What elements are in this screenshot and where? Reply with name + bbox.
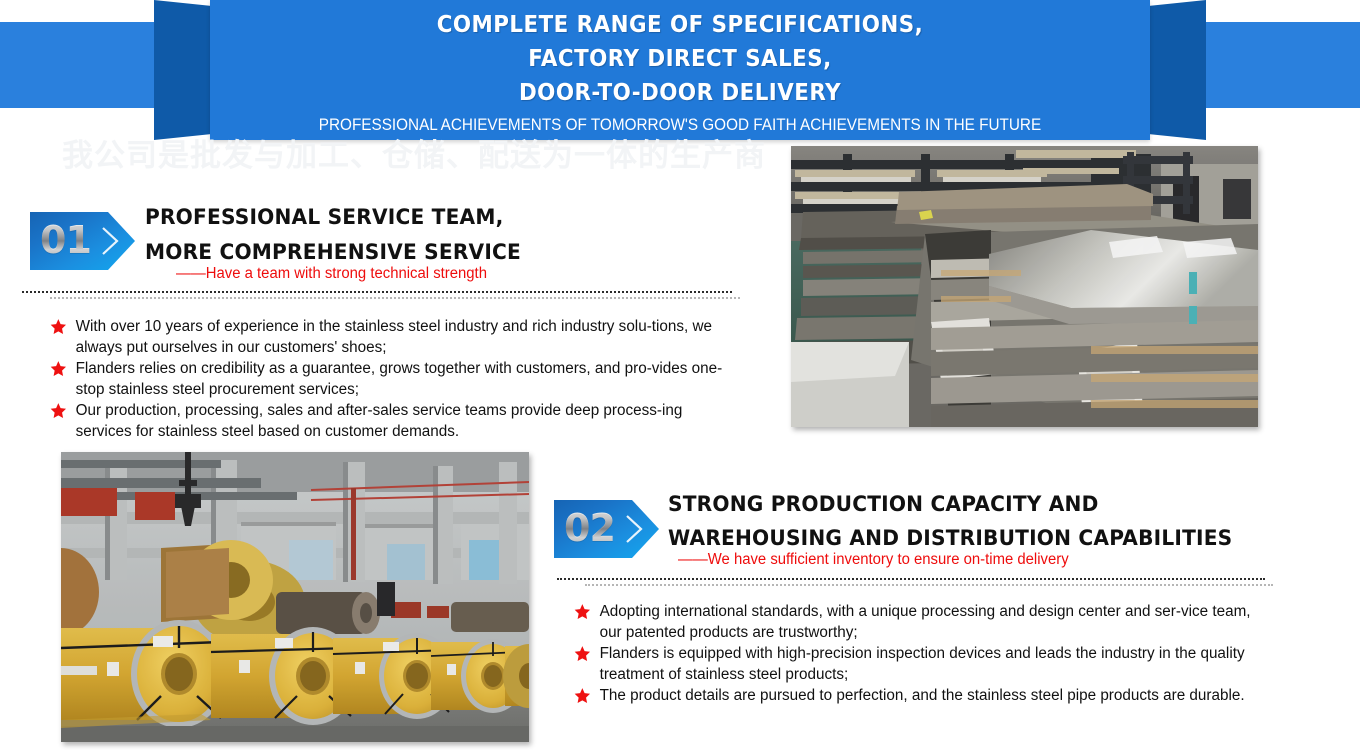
section-02-number-badge: 02 [554,500,659,558]
banner-headline-line-1: COMPLETE RANGE OF SPECIFICATIONS, [243,8,1117,42]
list-item: Flanders is equipped with high-precision… [572,643,1262,685]
section-01-title-line-1: PROFESSIONAL SERVICE TEAM, [145,205,503,229]
list-item: With over 10 years of experience in the … [48,316,728,358]
banner-fold-right [1148,0,1206,140]
section-01-number: 01 [40,218,91,262]
star-icon [574,687,591,704]
photo-stainless-steel-sheets [791,146,1258,427]
list-item: The product details are pursued to perfe… [572,685,1262,706]
section-01-divider [22,291,732,293]
photo-stainless-steel-coils [61,452,529,742]
section-01-bullet-list: With over 10 years of experience in the … [48,316,738,442]
banner-headline-line-2: FACTORY DIRECT SALES, [243,42,1117,76]
photo-sheets-illustration [791,146,1258,427]
list-item-text: Our production, processing, sales and af… [76,402,683,440]
section-01-title-line-2: MORE COMPREHENSIVE SERVICE [145,240,521,264]
list-item-text: Flanders is equipped with high-precision… [600,645,1245,683]
star-icon [50,360,67,377]
section-02-divider [557,578,1265,580]
list-item: Our production, processing, sales and af… [48,400,728,442]
background-watermark-text: 我公司是批发与加工、仓储、配送为一体的生产商 [62,130,766,175]
list-item-text: The product details are pursued to perfe… [600,687,1245,704]
star-icon [574,603,591,620]
list-item-text: Flanders relies on credibility as a guar… [76,360,723,398]
banner-headline-line-3: DOOR-TO-DOOR DELIVERY [243,76,1117,110]
list-item: Adopting international standards, with a… [572,601,1262,643]
list-item-text: Adopting international standards, with a… [600,603,1251,641]
section-02-subtitle: ——We have sufficient inventory to ensure… [678,551,1069,569]
section-02-bullet-list: Adopting international standards, with a… [572,601,1272,706]
section-01-subtitle: ——Have a team with strong technical stre… [176,265,487,283]
list-item: Flanders relies on credibility as a guar… [48,358,728,400]
section-01-number-badge: 01 [30,212,135,270]
star-icon [574,645,591,662]
photo-coils-illustration [61,452,529,742]
section-02-number: 02 [564,506,615,550]
section-02-title-line-2: WAREHOUSING AND DISTRIBUTION CAPABILITIE… [668,526,1232,550]
banner-fold-left [154,0,212,140]
hero-banner: COMPLETE RANGE OF SPECIFICATIONS, FACTOR… [0,0,1360,140]
star-icon [50,402,67,419]
chevron-right-icon [624,513,644,545]
banner-panel: COMPLETE RANGE OF SPECIFICATIONS, FACTOR… [210,0,1150,140]
section-02-title-line-1: STRONG PRODUCTION CAPACITY AND [668,492,1099,516]
star-icon [50,318,67,335]
list-item-text: With over 10 years of experience in the … [76,318,712,356]
chevron-right-icon [100,225,120,257]
